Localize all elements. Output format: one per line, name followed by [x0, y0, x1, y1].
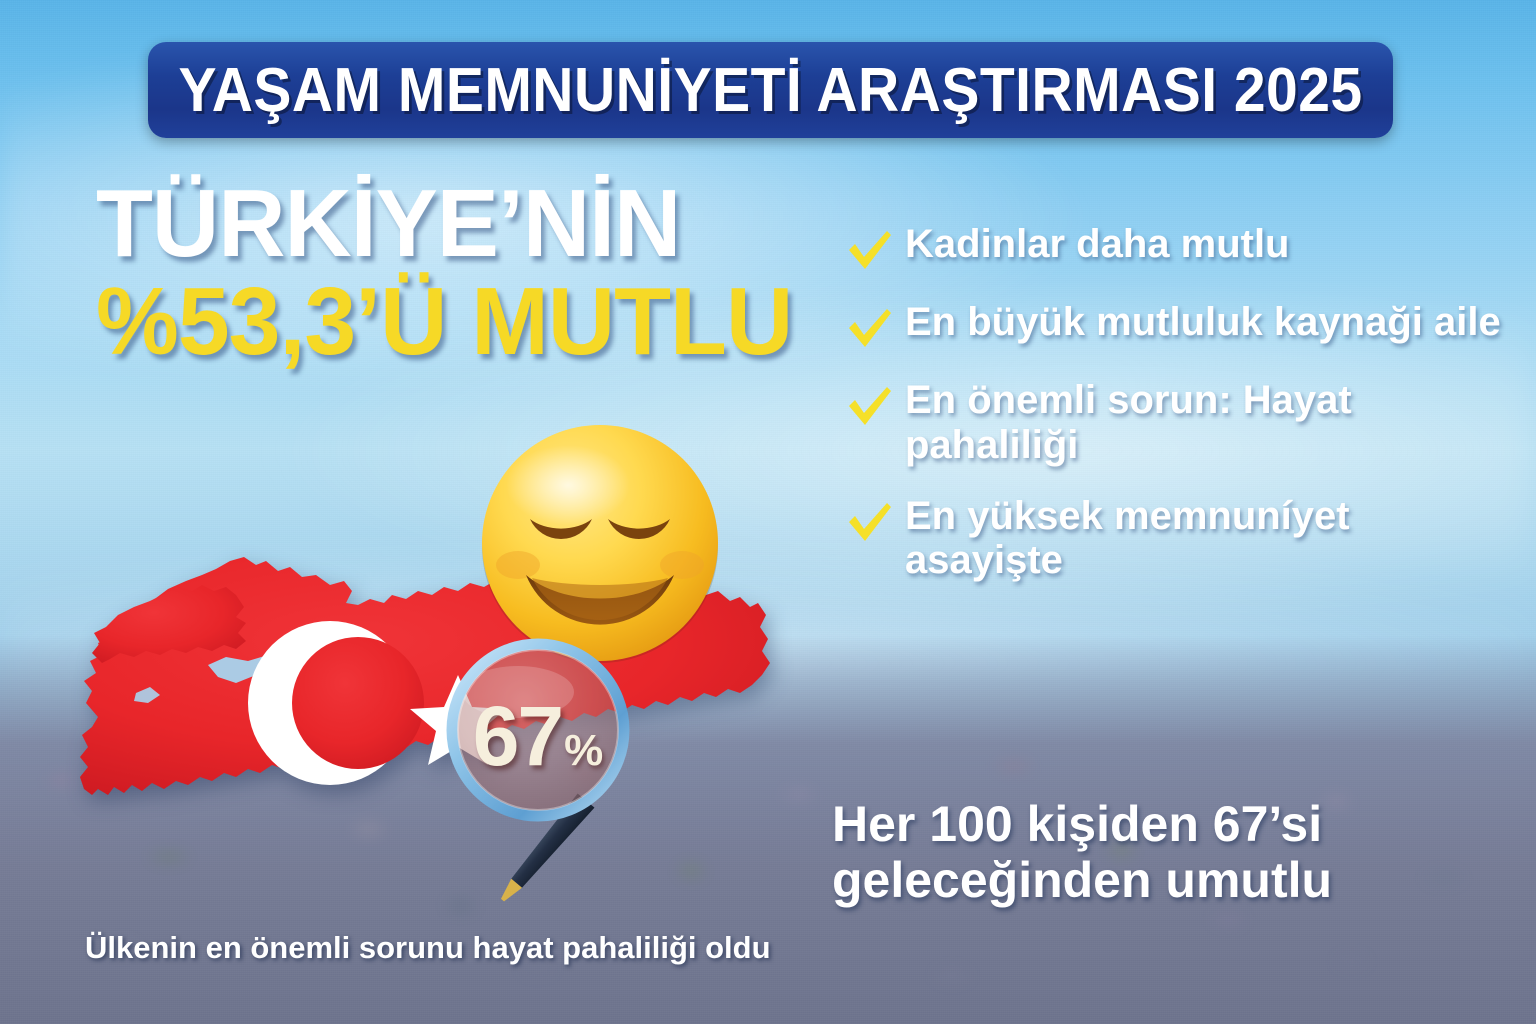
magnifier-percent-sign: % [564, 726, 603, 776]
list-item: En önemli sorun: Hayat pahaliliği [845, 378, 1505, 468]
magnifier: 67 % [452, 630, 742, 930]
statement-line-1: Her 100 kişiden 67’si [832, 796, 1472, 852]
list-item-label: En önemli sorun: Hayat pahaliliği [905, 378, 1505, 468]
magnifier-number: 67 [473, 688, 562, 785]
list-item-label: En büyük mutluluk kaynaği aile [905, 300, 1501, 345]
header-banner: YAŞAM MEMNUNİYETİ ARAŞTIRMASI 2025 [148, 42, 1393, 138]
list-item: Kadinlar daha mutlu [845, 222, 1505, 274]
check-icon [845, 498, 893, 546]
bullet-list: Kadinlar daha mutlu En büyük mutluluk ka… [845, 222, 1505, 609]
check-icon [845, 382, 893, 430]
check-icon [845, 226, 893, 274]
check-icon [845, 304, 893, 352]
list-item: En yüksek memnuníyet asayişte [845, 494, 1505, 584]
statement-block: Her 100 kişiden 67’si geleceğinden umutl… [832, 796, 1472, 908]
infographic-poster: YAŞAM MEMNUNİYETİ ARAŞTIRMASI 2025 TÜRKİ… [0, 0, 1536, 1024]
headline-line-2: %53,3’Ü MUTLU [96, 276, 853, 368]
list-item-label: Kadinlar daha mutlu [905, 222, 1290, 267]
headline-line-1: TÜRKİYE’NİN [96, 178, 853, 270]
caption-text: Ülkenin en önemli sorunu hayat pahaliliğ… [85, 930, 771, 966]
list-item: En büyük mutluluk kaynaği aile [845, 300, 1505, 352]
list-item-label: En yüksek memnuníyet asayişte [905, 494, 1505, 584]
banner-title: YAŞAM MEMNUNİYETİ ARAŞTIRMASI 2025 [178, 55, 1362, 126]
headline-block: TÜRKİYE’NİN %53,3’Ü MUTLU [96, 178, 876, 368]
magnifier-value: 67 % [452, 688, 624, 785]
statement-line-2: geleceğinden umutlu [832, 852, 1472, 908]
